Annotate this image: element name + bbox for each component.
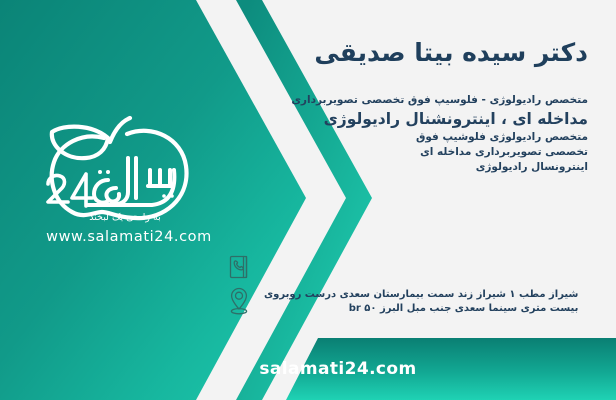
specialty-line-3: متخصص رادیولوژی فلوشیپ فوق	[228, 130, 588, 145]
address-row: شیراز مطب ۱ شیراز زند سمت بیمارستان سعدی…	[224, 284, 594, 318]
specialty-line-1: متخصص رادیولوژی - فلوسیپ فوق تخصصی تصویر…	[228, 93, 588, 108]
address-line-1: شیراز مطب ۱ شیراز زند سمت بیمارستان سعدی…	[264, 288, 578, 302]
phone-row	[224, 250, 594, 284]
specialties-list: متخصص رادیولوژی - فلوسیپ فوق تخصصی تصویر…	[228, 93, 588, 175]
logo-website-url: www.salamati24.com	[14, 229, 244, 245]
footer-website-url[interactable]: salamati24.com	[0, 338, 616, 400]
doctor-name-heading: دکتر سیده بیتا صدیقی	[228, 38, 588, 67]
contact-block: شیراز مطب ۱ شیراز زند سمت بیمارستان سعدی…	[224, 250, 594, 318]
phone-book-icon[interactable]	[224, 250, 254, 284]
specialty-line-2: مداخله ای ، اینترونشنال رادیولوژی	[228, 108, 588, 130]
address-line-2: بیست متری سینما سعدی جنب مبل البرز ۵۰ br	[264, 302, 578, 316]
logo-block: به راحتی یک لبخند www.salamati24.com	[14, 108, 244, 245]
specialty-line-5: اینترونسال رادیولوژی	[228, 160, 588, 175]
map-pin-icon[interactable]	[224, 284, 254, 318]
specialty-line-4: تخصصی تصویربرداری مداخله ای	[228, 145, 588, 160]
address-text: شیراز مطب ۱ شیراز زند سمت بیمارستان سعدی…	[264, 284, 578, 316]
logo-tagline: به راحتی یک لبخند	[14, 212, 236, 223]
business-card: به راحتی یک لبخند www.salamati24.com دکت…	[0, 0, 616, 400]
salamati24-apple-logo	[24, 108, 234, 228]
